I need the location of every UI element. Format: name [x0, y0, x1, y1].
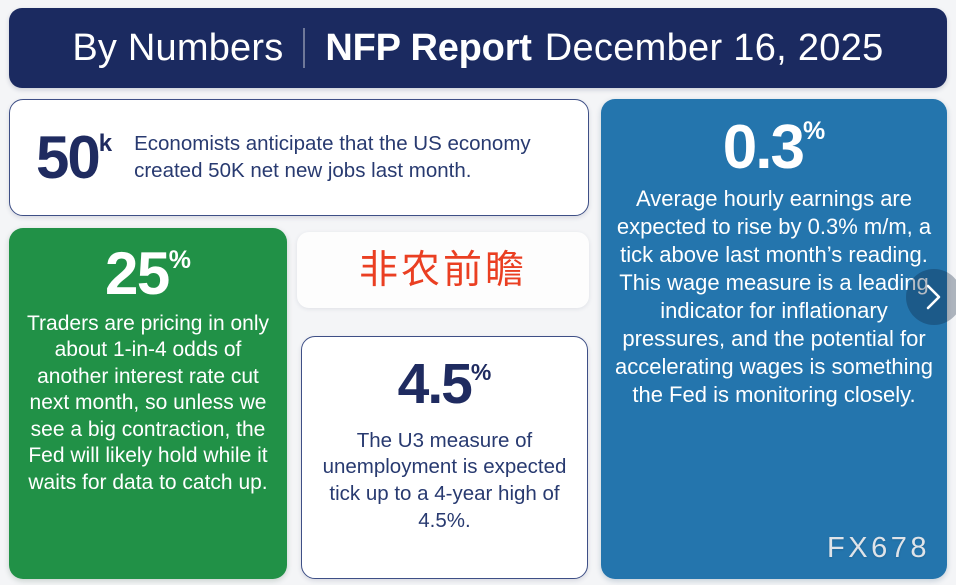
headline-label-chinese: 非农前瞻	[359, 251, 527, 290]
header-report-label: NFP Report	[325, 27, 531, 70]
chevron-right-icon	[923, 282, 945, 312]
stat-card-unemployment: 4.5 % The U3 measure of unemployment is …	[301, 336, 588, 579]
stat-number: 4.5	[398, 355, 471, 415]
header-bar: By Numbers NFP Report December 16, 2025	[9, 8, 947, 88]
stat-value-unemployment: 4.5 %	[398, 355, 492, 415]
stat-value-payrolls: 50 k	[36, 128, 112, 188]
headline-card-chinese: 非农前瞻	[297, 232, 589, 308]
stat-number: 25	[105, 242, 169, 307]
header-title-group: By Numbers NFP Report December 16, 2025	[72, 27, 883, 70]
vertical-divider-icon	[303, 28, 305, 68]
stat-description-hourly-earnings: Average hourly earnings are expected to …	[613, 185, 935, 409]
stat-description-unemployment: The U3 measure of unemployment is expect…	[316, 428, 573, 535]
stat-card-payrolls: 50 k Economists anticipate that the US e…	[9, 99, 589, 216]
stat-number: 50	[36, 128, 99, 188]
stat-description-payrolls: Economists anticipate that the US econom…	[134, 131, 576, 183]
stat-value-rate-cut-odds: 25 %	[105, 242, 191, 307]
stat-number: 0.3	[723, 113, 803, 182]
watermark-label: FX678	[827, 532, 930, 565]
stat-unit: %	[803, 119, 825, 144]
stat-value-hourly-earnings: 0.3 %	[723, 113, 825, 182]
stat-card-rate-cut-odds: 25 % Traders are pricing in only about 1…	[9, 228, 287, 579]
stat-unit: %	[169, 248, 191, 273]
stat-description-rate-cut-odds: Traders are pricing in only about 1-in-4…	[21, 311, 275, 496]
carousel-next-button[interactable]	[906, 269, 956, 325]
stat-card-hourly-earnings: 0.3 % Average hourly earnings are expect…	[601, 99, 947, 579]
header-brand-label: By Numbers	[72, 27, 283, 70]
header-date-label: December 16, 2025	[545, 27, 884, 70]
stat-unit: %	[471, 361, 491, 384]
stat-unit: k	[99, 132, 112, 156]
